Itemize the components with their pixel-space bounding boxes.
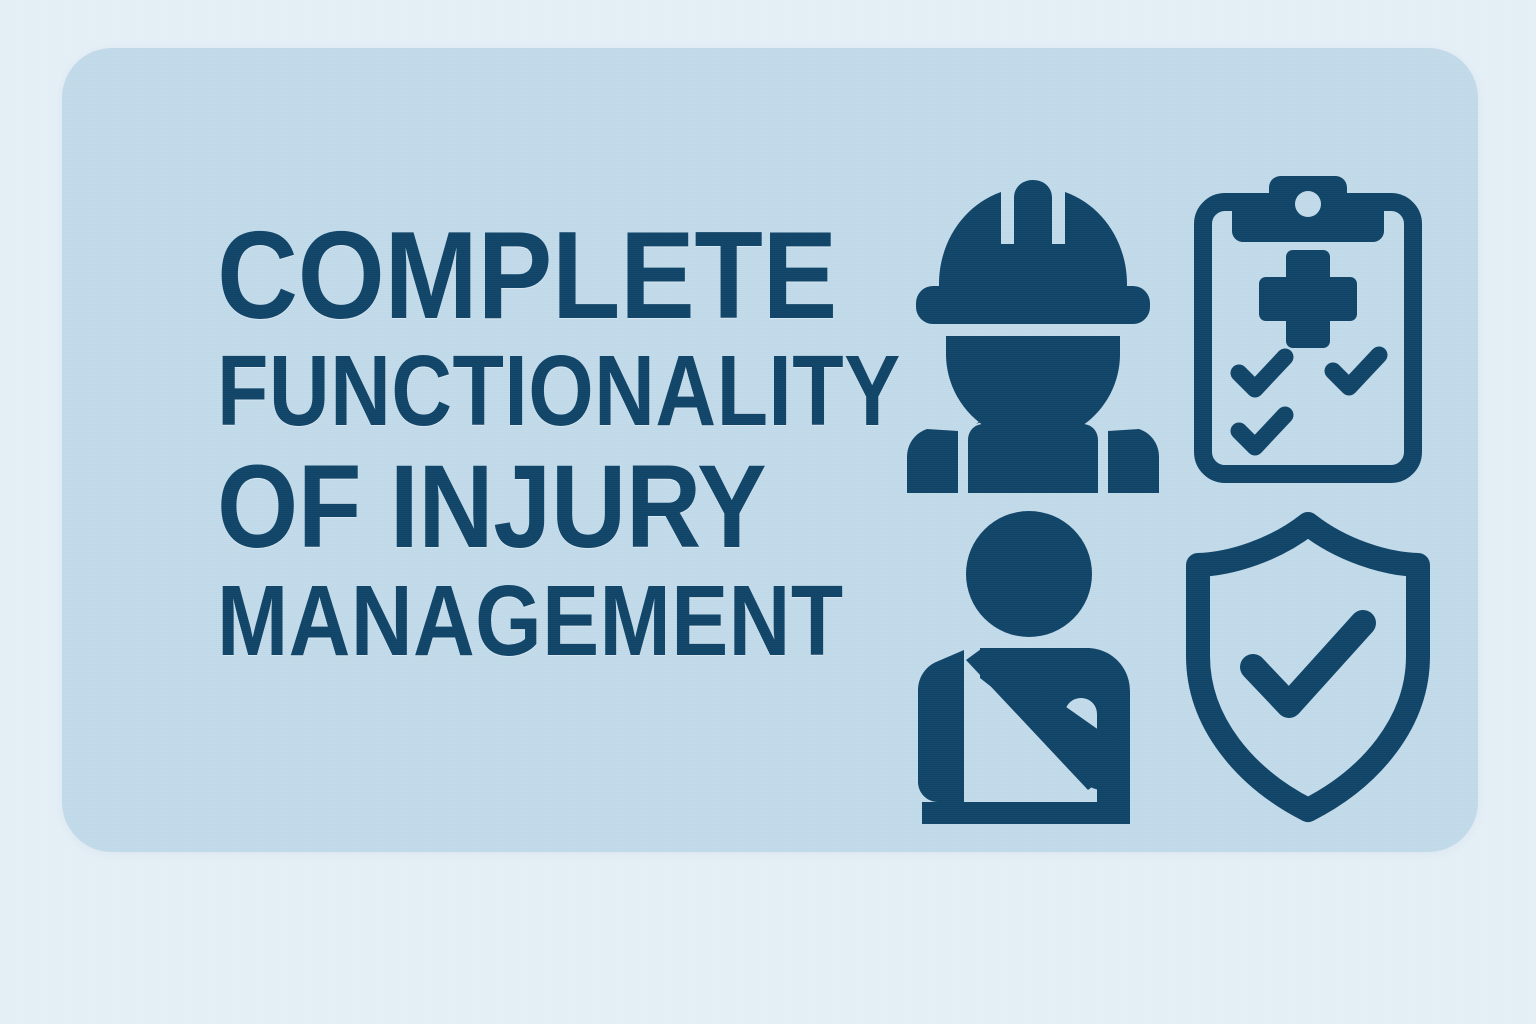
headline-line-1: COMPLETE xyxy=(217,218,832,335)
construction-worker-icon xyxy=(902,166,1164,496)
injured-person-arm-sling-icon xyxy=(902,502,1164,832)
poster-canvas: COMPLETE FUNCTIONALITY OF INJURY MANAGEM… xyxy=(0,0,1536,1024)
headline-line-4: MANAGEMENT xyxy=(217,574,798,668)
icon-grid xyxy=(902,166,1447,846)
headline-block: COMPLETE FUNCTIONALITY OF INJURY MANAGEM… xyxy=(217,218,897,668)
shield-check-icon xyxy=(1177,502,1439,832)
headline-line-2: FUNCTIONALITY xyxy=(217,344,790,438)
medical-clipboard-icon xyxy=(1177,166,1439,496)
headline-line-3: OF INJURY xyxy=(217,452,819,563)
poster-card: COMPLETE FUNCTIONALITY OF INJURY MANAGEM… xyxy=(62,48,1478,852)
